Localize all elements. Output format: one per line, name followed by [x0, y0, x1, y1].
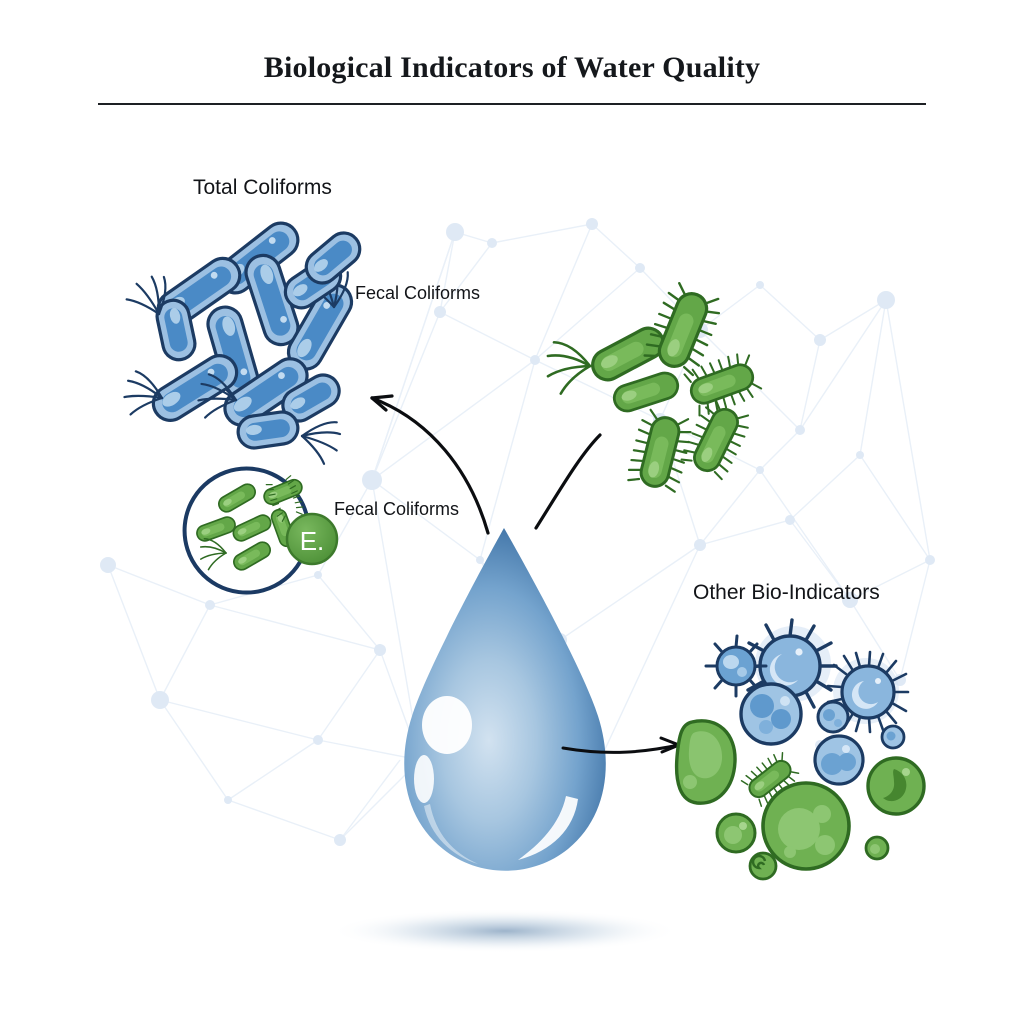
label-other-bio-indicators: Other Bio-Indicators [693, 581, 880, 605]
blue-cell-dividing [815, 736, 863, 784]
label-fecal-coliforms-top: Fecal Coliforms [355, 283, 480, 304]
green-cell-small-1 [717, 814, 755, 852]
green-cell-right [868, 758, 924, 814]
label-total-coliforms: Total Coliforms [193, 176, 332, 200]
green-cell-spiral [750, 853, 776, 879]
droplet-highlight-round [422, 696, 472, 754]
blue-cell-small-2 [882, 726, 904, 748]
illustration: E. [0, 0, 1024, 1024]
arrow-droplet-to-fecal-coliforms [536, 435, 600, 528]
green-cell-small-2 [866, 837, 888, 859]
green-cell-large [763, 783, 849, 869]
droplet-shadow [330, 909, 680, 953]
green-amoeba [677, 721, 735, 803]
infographic-canvas: Biological Indicators of Water Quality [0, 0, 1024, 1024]
other-bio-indicators-cluster [677, 620, 924, 879]
blue-cell-small-1 [818, 702, 848, 732]
fecal-coliforms-ring-cluster: E. [185, 469, 337, 593]
total-coliforms-cluster [114, 216, 366, 466]
ecoli-badge-label: E. [300, 526, 325, 556]
label-fecal-coliforms-bottom: Fecal Coliforms [334, 499, 459, 520]
fecal-coliforms-cluster [537, 281, 763, 493]
water-droplet [404, 528, 606, 871]
blue-cell-large [741, 684, 801, 744]
droplet-highlight-small [414, 755, 434, 803]
